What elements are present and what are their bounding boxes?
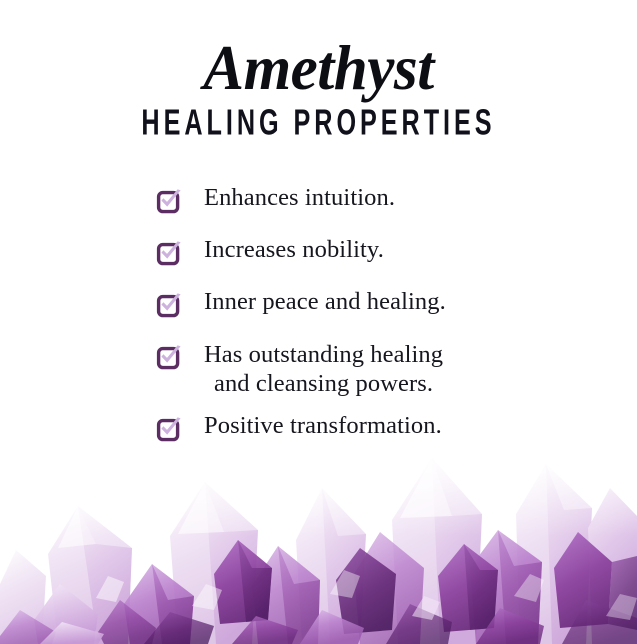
amethyst-crystal-image bbox=[0, 444, 637, 644]
list-item-label: Has outstanding healing and cleansing po… bbox=[204, 340, 443, 398]
subtitle-heading: HEALING PROPERTIES bbox=[89, 103, 548, 143]
checkbox-checked-icon bbox=[156, 417, 182, 443]
list-item: Has outstanding healing and cleansing po… bbox=[0, 340, 637, 398]
amethyst-healing-properties-poster: Amethyst HEALING PROPERTIES Enhances int… bbox=[0, 0, 637, 644]
checkbox-checked-icon bbox=[156, 345, 182, 371]
healing-properties-list: Enhances intuition. Increases nobility. … bbox=[0, 184, 637, 464]
list-item: Increases nobility. bbox=[0, 236, 637, 268]
checkbox-checked-icon bbox=[156, 241, 182, 267]
checkbox-checked-icon bbox=[156, 189, 182, 215]
list-item-label: Positive transformation. bbox=[204, 412, 442, 440]
checkbox-checked-icon bbox=[156, 293, 182, 319]
list-item-label: Inner peace and healing. bbox=[204, 288, 446, 316]
list-item-label: Increases nobility. bbox=[204, 236, 384, 264]
list-item: Inner peace and healing. bbox=[0, 288, 637, 320]
page-title: Amethyst HEALING PROPERTIES bbox=[0, 34, 637, 142]
title-heading: Amethyst bbox=[10, 34, 628, 102]
crystal-cluster-illustration bbox=[0, 444, 637, 644]
list-item: Positive transformation. bbox=[0, 412, 637, 444]
list-item-label: Enhances intuition. bbox=[204, 184, 395, 212]
list-item: Enhances intuition. bbox=[0, 184, 637, 216]
